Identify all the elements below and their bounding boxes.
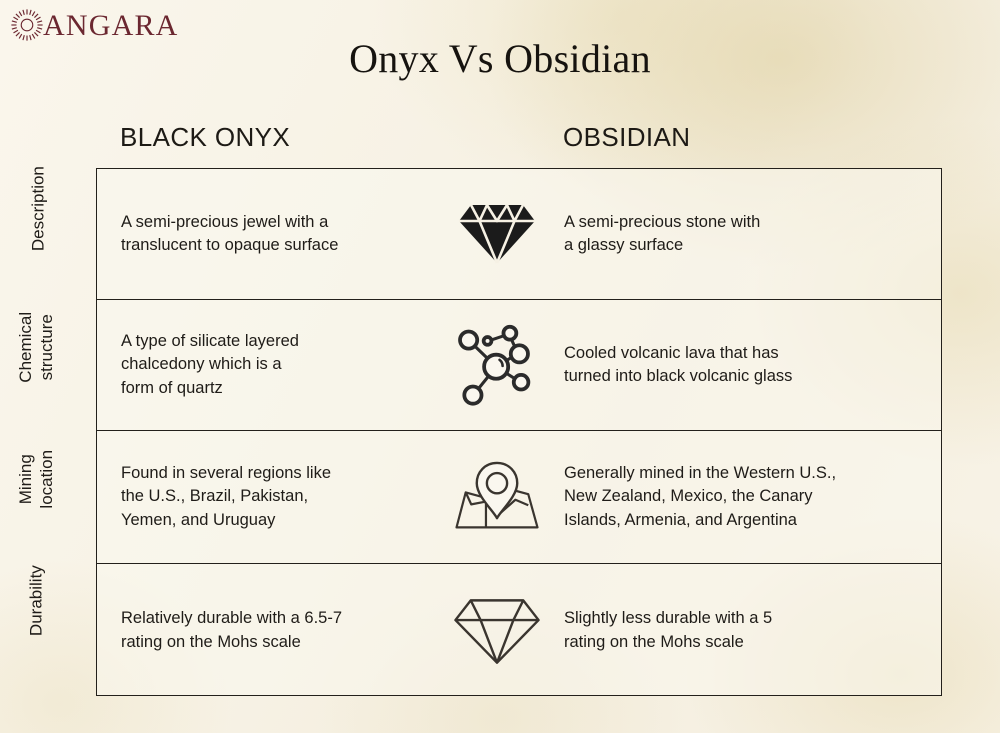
page-title: Onyx Vs Obsidian — [0, 35, 1000, 82]
column-header-left: BLACK ONYX — [120, 122, 290, 153]
row-icon — [442, 461, 552, 533]
cell-left: Found in several regions like the U.S., … — [121, 462, 421, 532]
cell-left: A semi-precious jewel with a translucent… — [121, 211, 421, 258]
cell-right: Cooled volcanic lava that has turned int… — [564, 342, 909, 389]
table-row: Relatively durable with a 6.5-7 rating o… — [97, 564, 941, 697]
map-pin-icon — [451, 461, 543, 533]
column-header-right: OBSIDIAN — [563, 122, 690, 153]
table-row: A type of silicate layered chalcedony wh… — [97, 300, 941, 431]
cell-right: Slightly less durable with a 5 rating on… — [564, 607, 909, 654]
cell-right: A semi-precious stone with a glassy surf… — [564, 211, 909, 258]
cell-right: Generally mined in the Western U.S., New… — [564, 462, 909, 532]
cell-left: Relatively durable with a 6.5-7 rating o… — [121, 607, 421, 654]
cell-left: A type of silicate layered chalcedony wh… — [121, 330, 421, 400]
filled-diamond-icon — [457, 202, 537, 266]
row-label-durability: Durability — [25, 521, 46, 681]
table-row: Found in several regions like the U.S., … — [97, 431, 941, 564]
row-icon — [442, 322, 552, 408]
outline-diamond-icon — [453, 596, 541, 666]
row-label-description: Description — [27, 129, 48, 289]
molecule-icon — [454, 322, 540, 408]
row-icon — [442, 596, 552, 666]
infographic-page: ANGARA Onyx Vs Obsidian BLACK ONYX OBSID… — [0, 0, 1000, 733]
row-icon — [442, 202, 552, 266]
comparison-table: A semi-precious jewel with a translucent… — [96, 168, 942, 696]
table-row: A semi-precious jewel with a translucent… — [97, 169, 941, 300]
